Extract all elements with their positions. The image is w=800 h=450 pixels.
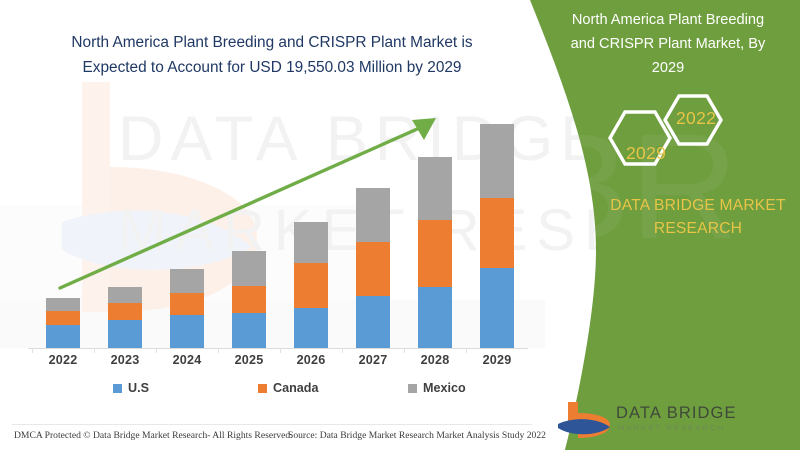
bar-segment [46, 325, 80, 348]
bar-group [108, 287, 142, 348]
bar-segment [356, 242, 390, 296]
green-panel-brand-line2: RESEARCH [598, 217, 798, 240]
green-panel-brand: DATA BRIDGE MARKET RESEARCH [598, 194, 798, 240]
bar-segment [294, 308, 328, 348]
bridge-logo-icon [556, 400, 614, 442]
bar-segment [170, 293, 204, 315]
bar-segment [232, 251, 266, 286]
bar-segment [170, 269, 204, 293]
bar-segment [46, 298, 80, 311]
logo-title: DATA BRIDGE [616, 404, 737, 423]
page-title-line1: North America Plant Breeding and CRISPR … [26, 30, 518, 55]
green-panel-title-line3: 2029 [546, 56, 790, 80]
x-axis-tick-label: 2022 [35, 353, 91, 367]
x-axis-tick-label: 2025 [221, 353, 277, 367]
footer-source-note: Source: Data Bridge Market Research Mark… [288, 430, 546, 441]
chart-legend: U.SCanadaMexico [28, 381, 528, 401]
hexagon-label-2029: 2029 [626, 143, 666, 164]
legend-swatch-icon [258, 384, 267, 393]
legend-label: Canada [273, 381, 319, 395]
legend-swatch-icon [408, 384, 417, 393]
bar-segment [170, 315, 204, 348]
bar-group [46, 298, 80, 348]
green-panel-title-line2: and CRISPR Plant Market, By [546, 32, 790, 56]
legend-label: Mexico [423, 381, 466, 395]
bar-group [294, 222, 328, 348]
bar-segment [418, 220, 452, 287]
logo-subtitle: MARKET RESEARCH [618, 423, 725, 432]
bar-segment [108, 287, 142, 303]
x-axis-tick-label: 2027 [345, 353, 401, 367]
infographic-root: DATA BRIDGE MARKET RESEARCH North Americ… [0, 0, 800, 450]
bar-segment [418, 287, 452, 348]
page-title-line2: Expected to Account for USD 19,550.03 Mi… [26, 55, 518, 80]
footer-divider [12, 424, 532, 425]
axis-tick-mark [32, 348, 33, 353]
bar-segment [294, 263, 328, 308]
green-panel-brand-line1: DATA BRIDGE MARKET [598, 194, 798, 217]
hexagon-shapes-icon [593, 86, 738, 191]
axis-tick-mark [156, 348, 157, 353]
bar-segment [480, 198, 514, 268]
bar-segment [232, 313, 266, 348]
bar-group [418, 157, 452, 348]
legend-item[interactable]: U.S [113, 381, 149, 395]
bar-group [170, 269, 204, 348]
x-axis-tick-label: 2024 [159, 353, 215, 367]
green-panel-title-line1: North America Plant Breeding [546, 8, 790, 32]
bar-group [232, 251, 266, 348]
legend-swatch-icon [113, 384, 122, 393]
chart-baseline [28, 348, 528, 349]
bar-group [356, 188, 390, 348]
x-axis-tick-label: 2023 [97, 353, 153, 367]
bar-segment [294, 222, 328, 263]
bar-segment [356, 296, 390, 348]
axis-tick-mark [404, 348, 405, 353]
footer-dmca-notice: DMCA Protected © Data Bridge Market Rese… [14, 430, 293, 441]
x-axis-tick-label: 2029 [469, 353, 525, 367]
x-axis-tick-label: 2026 [283, 353, 339, 367]
axis-tick-mark [94, 348, 95, 353]
bar-segment [480, 124, 514, 198]
legend-item[interactable]: Mexico [408, 381, 466, 395]
legend-item[interactable]: Canada [258, 381, 319, 395]
bar-segment [418, 157, 452, 220]
bar-segment [480, 268, 514, 348]
bar-group [480, 124, 514, 348]
legend-label: U.S [128, 381, 149, 395]
axis-tick-mark [218, 348, 219, 353]
data-bridge-logo: DATA BRIDGE MARKET RESEARCH [556, 398, 741, 442]
chart-bars-container [28, 98, 533, 348]
green-panel-title: North America Plant Breeding and CRISPR … [546, 8, 790, 80]
axis-tick-mark [466, 348, 467, 353]
bar-segment [232, 286, 266, 313]
bar-segment [108, 320, 142, 348]
hexagon-group: 2029 2022 [593, 86, 738, 191]
bar-segment [356, 188, 390, 242]
footer: DMCA Protected © Data Bridge Market Rese… [0, 424, 545, 450]
page-title: North America Plant Breeding and CRISPR … [26, 30, 518, 80]
hexagon-label-2022: 2022 [676, 108, 716, 129]
x-axis-tick-label: 2028 [407, 353, 463, 367]
axis-tick-mark [342, 348, 343, 353]
bar-segment [108, 303, 142, 320]
axis-tick-mark [280, 348, 281, 353]
bar-segment [46, 311, 80, 325]
